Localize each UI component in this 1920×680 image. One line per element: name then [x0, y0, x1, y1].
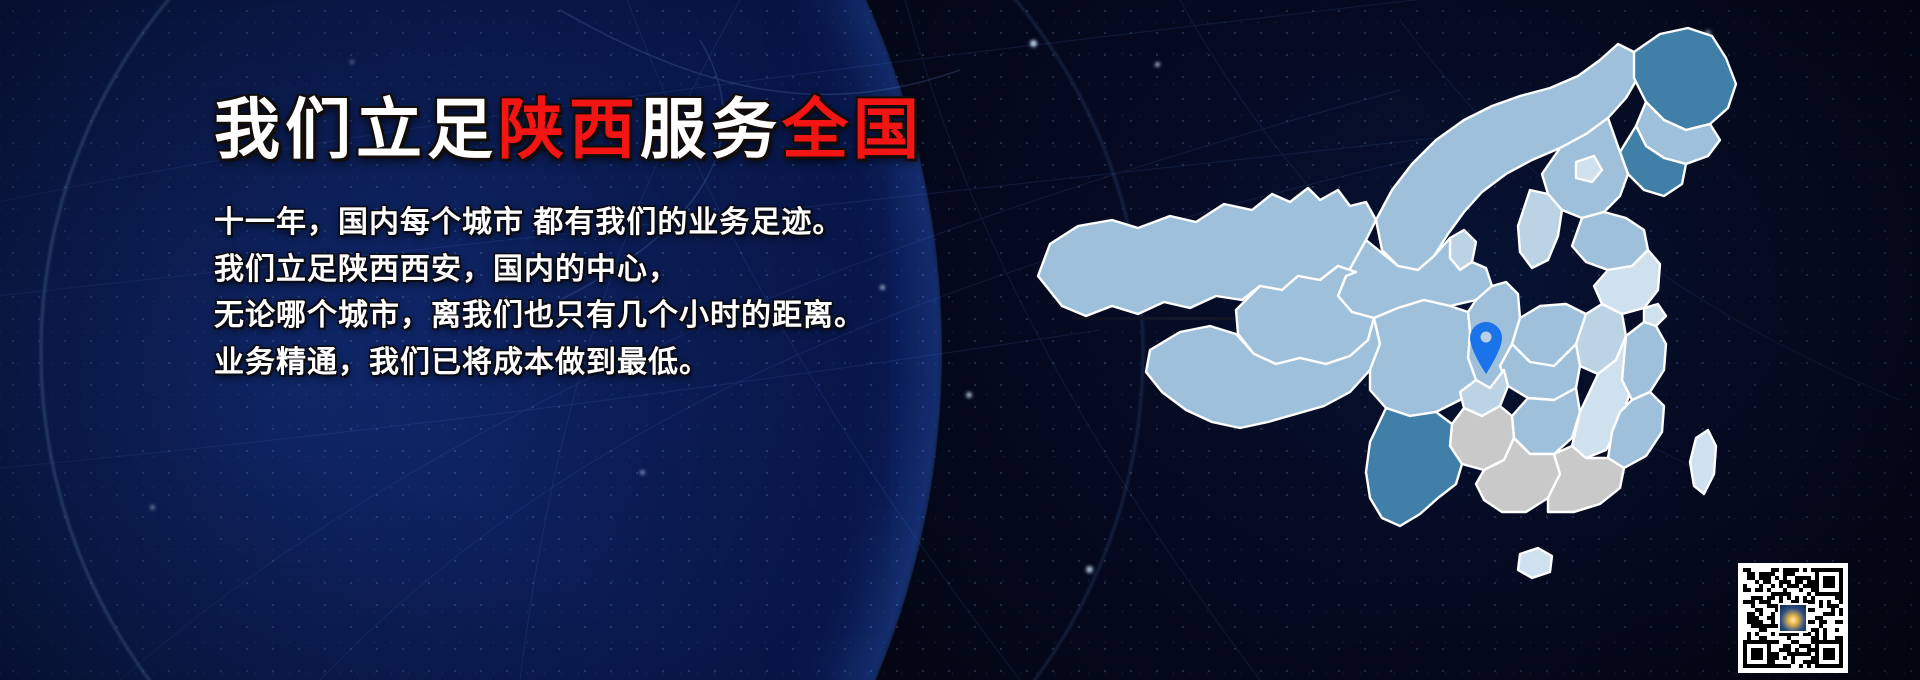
china-map — [1020, 14, 1820, 674]
qr-code[interactable] — [1738, 563, 1848, 673]
province-taiwan — [1690, 430, 1716, 494]
headline-segment-4: 全国 — [782, 92, 924, 166]
province-sichuan — [1370, 300, 1476, 416]
body-text: 十一年，国内每个城市 都有我们的业务足迹。 我们立足陕西西安，国内的中心， 无论… — [214, 200, 1094, 386]
qr-center-logo — [1778, 603, 1808, 633]
headline: 我们立足陕西服务全国 — [214, 96, 1094, 162]
body-line-4: 业务精通，我们已将成本做到最低。 — [214, 340, 1094, 387]
qr-grid — [1743, 568, 1843, 668]
body-line-1: 十一年，国内每个城市 都有我们的业务足迹。 — [214, 200, 1094, 247]
body-line-2: 我们立足陕西西安，国内的中心， — [214, 247, 1094, 294]
china-map-svg — [1020, 14, 1820, 674]
body-line-3: 无论哪个城市，离我们也只有几个小时的距离。 — [214, 293, 1094, 340]
province-yunnan — [1366, 408, 1462, 526]
headline-segment-2: 陕西 — [498, 92, 640, 166]
province-hainan — [1518, 548, 1552, 578]
headline-segment-1: 我们立足 — [214, 92, 498, 166]
province-zhejiang — [1622, 322, 1666, 400]
province-shanxi — [1518, 190, 1562, 268]
copy-block: 我们立足陕西服务全国 十一年，国内每个城市 都有我们的业务足迹。 我们立足陕西西… — [214, 96, 1094, 386]
promo-banner: 我们立足陕西服务全国 十一年，国内每个城市 都有我们的业务足迹。 我们立足陕西西… — [0, 0, 1920, 680]
headline-segment-3: 服务 — [640, 92, 782, 166]
